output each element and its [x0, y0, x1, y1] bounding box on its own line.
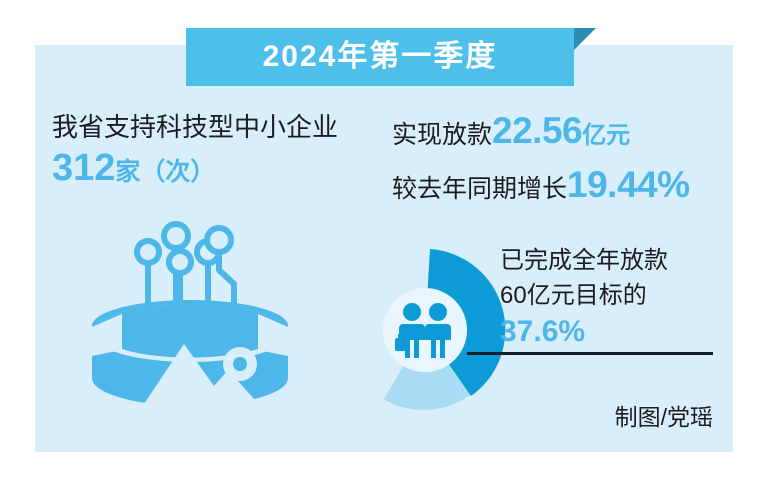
right-stat-value-1: 19.44% — [567, 164, 690, 205]
title-ribbon: 2024年第一季度 — [186, 28, 574, 86]
right-stat-value-0: 22.56 — [492, 110, 582, 151]
left-stat-value-row: 312家（次） — [52, 146, 392, 198]
right-stat-block: 实现放款22.56亿元 较去年同期增长19.44% — [392, 108, 722, 216]
goal-percent: 37.6% — [500, 313, 720, 351]
left-stat-block: 我省支持科技型中小企业 312家（次） — [52, 108, 392, 198]
donut-chart-svg — [341, 246, 509, 414]
right-stat-unit-0: 亿元 — [582, 122, 630, 149]
right-stat-label-1: 较去年同期增长 — [392, 175, 567, 203]
left-stat-label: 我省支持科技型中小企业 — [52, 108, 392, 146]
right-stat-row-1: 较去年同期增长19.44% — [392, 162, 722, 216]
goal-line-1: 已完成全年放款 — [500, 243, 720, 278]
tech-cylinder-icon — [88, 214, 292, 414]
ribbon-fold-corner — [574, 28, 596, 50]
right-stat-label-0: 实现放款 — [392, 121, 492, 149]
divider-rule — [467, 352, 713, 355]
left-stat-unit: 家（次） — [115, 158, 215, 186]
left-stat-value: 312 — [52, 147, 115, 189]
goal-text-block: 已完成全年放款 60亿元目标的 37.6% — [500, 243, 720, 351]
tech-cylinder-illustration — [88, 214, 292, 414]
right-stat-row-0: 实现放款22.56亿元 — [392, 108, 722, 162]
infographic-stage: 2024年第一季度 我省支持科技型中小企业 312家（次） 实现放款22.56亿… — [0, 0, 768, 482]
goal-donut-chart — [341, 246, 509, 414]
page-title: 2024年第一季度 — [263, 42, 498, 72]
goal-line-2: 60亿元目标的 — [500, 278, 720, 313]
credit-text: 制图/党瑶 — [473, 398, 713, 432]
